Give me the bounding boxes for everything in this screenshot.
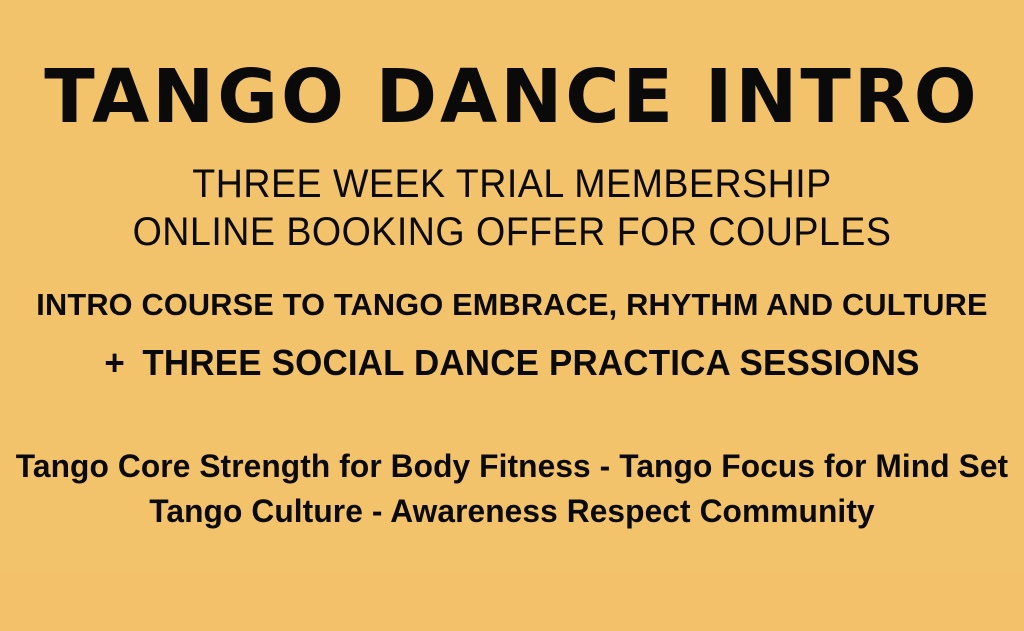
poster-content: TANGO DANCE INTRO THREE WEEK TRIAL MEMBE…: [0, 0, 1024, 631]
promo-poster: TANGO DANCE INTRO THREE WEEK TRIAL MEMBE…: [0, 0, 1024, 631]
subtitle-line-2: ONLINE BOOKING OFFER FOR COUPLES: [31, 212, 994, 252]
offer-line-1: INTRO COURSE TO TANGO EMBRACE, RHYTHM AN…: [5, 289, 1019, 320]
offer-line-2: +THREE SOCIAL DANCE PRACTICA SESSIONS: [15, 345, 1008, 381]
poster-headline: TANGO DANCE INTRO: [0, 60, 1024, 134]
offer-line-2-label: THREE SOCIAL DANCE PRACTICA SESSIONS: [142, 342, 919, 383]
plus-sign: +: [104, 342, 125, 383]
values-line-1: Tango Core Strength for Body Fitness - T…: [5, 450, 1019, 482]
subtitle-line-1: THREE WEEK TRIAL MEMBERSHIP: [31, 164, 994, 204]
values-line-2: Tango Culture - Awareness Respect Commun…: [5, 495, 1019, 527]
